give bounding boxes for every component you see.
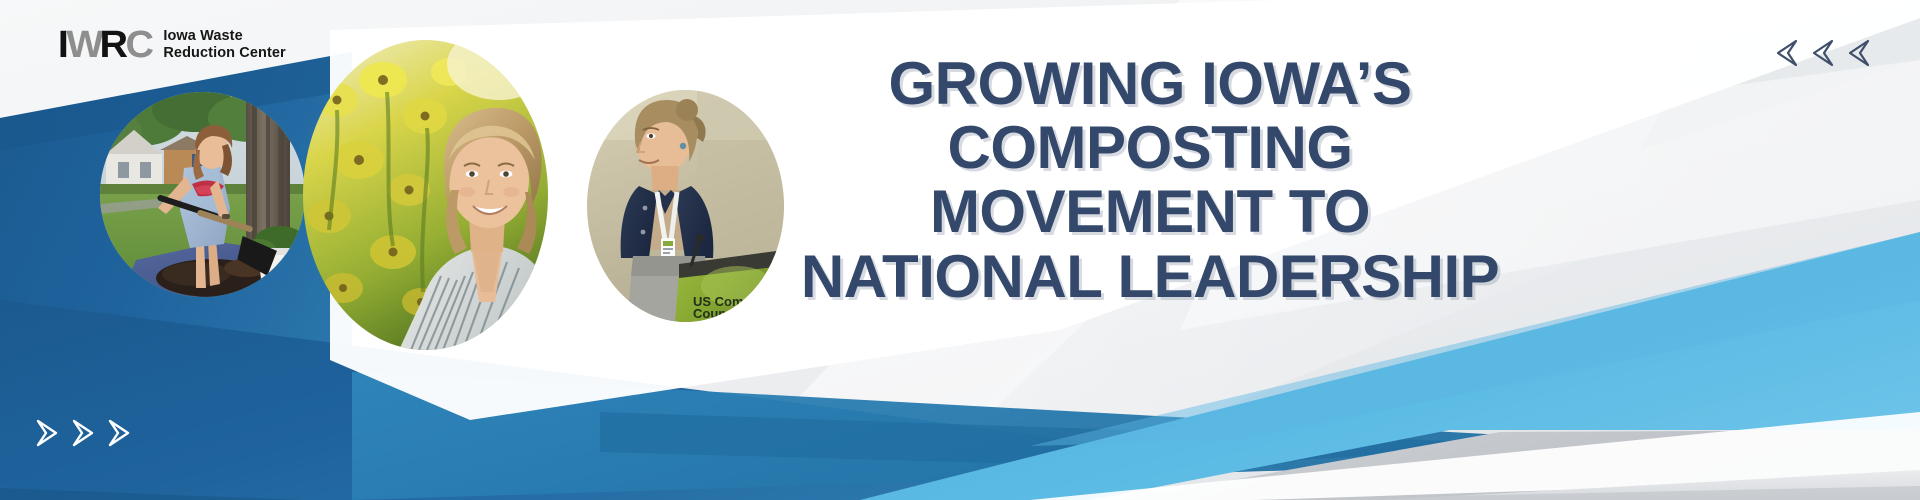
chevron-group-top-right	[1766, 38, 1872, 68]
chevron-right-icon	[70, 418, 104, 448]
logo-letter-r: R	[100, 26, 126, 64]
headline-line-1: GROWING IOWA’S	[760, 52, 1540, 116]
logo-letter-c: C	[125, 26, 151, 64]
iwrc-logo: IWRC Iowa Waste Reduction Center	[58, 26, 286, 64]
headline-line-3: MOVEMENT TO	[760, 180, 1540, 244]
banner-root: US Composting Council IWRC Iowa Waste Re…	[0, 0, 1920, 500]
wordmark-line-2: Reduction Center	[163, 45, 285, 62]
iwrc-logo-mark: IWRC	[58, 26, 151, 64]
page-title: GROWING IOWA’S COMPOSTING MOVEMENT TO NA…	[760, 52, 1540, 309]
chevron-left-icon	[1766, 38, 1800, 68]
logo-letter-w: W	[66, 26, 101, 64]
headline-line-2: COMPOSTING	[760, 116, 1540, 180]
chevron-group-bottom-left	[34, 418, 140, 448]
chevron-left-icon	[1802, 38, 1836, 68]
photo-speaker-at-podium: US Composting Council	[587, 90, 784, 322]
wordmark-line-1: Iowa Waste	[163, 28, 285, 45]
headline-line-4: NATIONAL LEADERSHIP	[760, 245, 1540, 309]
iwrc-wordmark: Iowa Waste Reduction Center	[163, 28, 285, 62]
photo-woman-portrait-sunflowers	[303, 40, 548, 350]
chevron-left-icon	[1838, 38, 1872, 68]
chevron-right-icon	[34, 418, 68, 448]
chevron-right-icon	[106, 418, 140, 448]
photo-woman-shoveling	[100, 92, 305, 297]
